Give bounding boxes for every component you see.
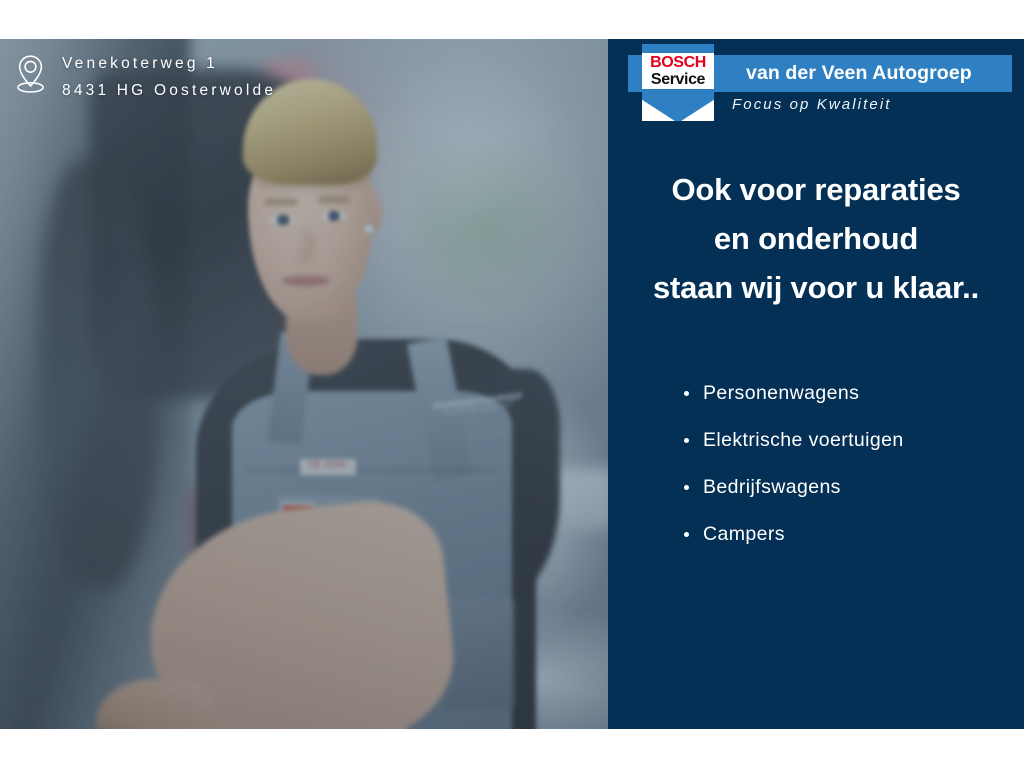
bullet-icon bbox=[684, 391, 689, 396]
bosch-logo-top-band bbox=[642, 44, 714, 53]
list-item: Campers bbox=[682, 523, 904, 546]
bosch-logo-word-bottom: Service bbox=[642, 71, 714, 89]
photo-haze bbox=[0, 39, 608, 729]
headline-line-2: en onderhoud bbox=[608, 214, 1024, 263]
service-label: Bedrijfswagens bbox=[703, 476, 841, 498]
bosch-logo-word-top: BOSCH bbox=[642, 54, 714, 72]
headline-line-3: staan wij voor u klaar.. bbox=[608, 263, 1024, 312]
advertisement-banner: DE JONG VDVEENAUTOGROEP FOCUS OP KWALITE… bbox=[0, 39, 1024, 729]
headline-line-1: Ook voor reparaties bbox=[608, 165, 1024, 214]
service-label: Personenwagens bbox=[703, 382, 859, 404]
service-label: Elektrische voertuigen bbox=[703, 429, 904, 451]
services-list: Personenwagens Elektrische voertuigen Be… bbox=[682, 382, 904, 546]
list-item: Bedrijfswagens bbox=[682, 476, 904, 499]
address-city: 8431 HG Oosterwolde bbox=[62, 77, 276, 104]
service-label: Campers bbox=[703, 523, 785, 545]
company-name: van der Veen Autogroep bbox=[746, 55, 972, 92]
bosch-logo-shield bbox=[642, 89, 714, 121]
address-street: Venekoterweg 1 bbox=[62, 50, 276, 77]
address-text: Venekoterweg 1 8431 HG Oosterwolde bbox=[62, 50, 276, 104]
bosch-service-logo: BOSCH Service bbox=[642, 44, 714, 121]
bullet-icon bbox=[684, 438, 689, 443]
bullet-icon bbox=[684, 532, 689, 537]
map-pin-icon bbox=[14, 54, 48, 101]
info-panel: van der Veen Autogroep Focus op Kwalitei… bbox=[608, 39, 1024, 729]
company-tagline: Focus op Kwaliteit bbox=[732, 96, 892, 113]
list-item: Elektrische voertuigen bbox=[682, 429, 904, 452]
address-overlay: Venekoterweg 1 8431 HG Oosterwolde bbox=[14, 50, 276, 104]
workshop-photo: DE JONG VDVEENAUTOGROEP FOCUS OP KWALITE… bbox=[0, 39, 608, 729]
bullet-icon bbox=[684, 485, 689, 490]
headline: Ook voor reparaties en onderhoud staan w… bbox=[608, 165, 1024, 312]
list-item: Personenwagens bbox=[682, 382, 904, 405]
